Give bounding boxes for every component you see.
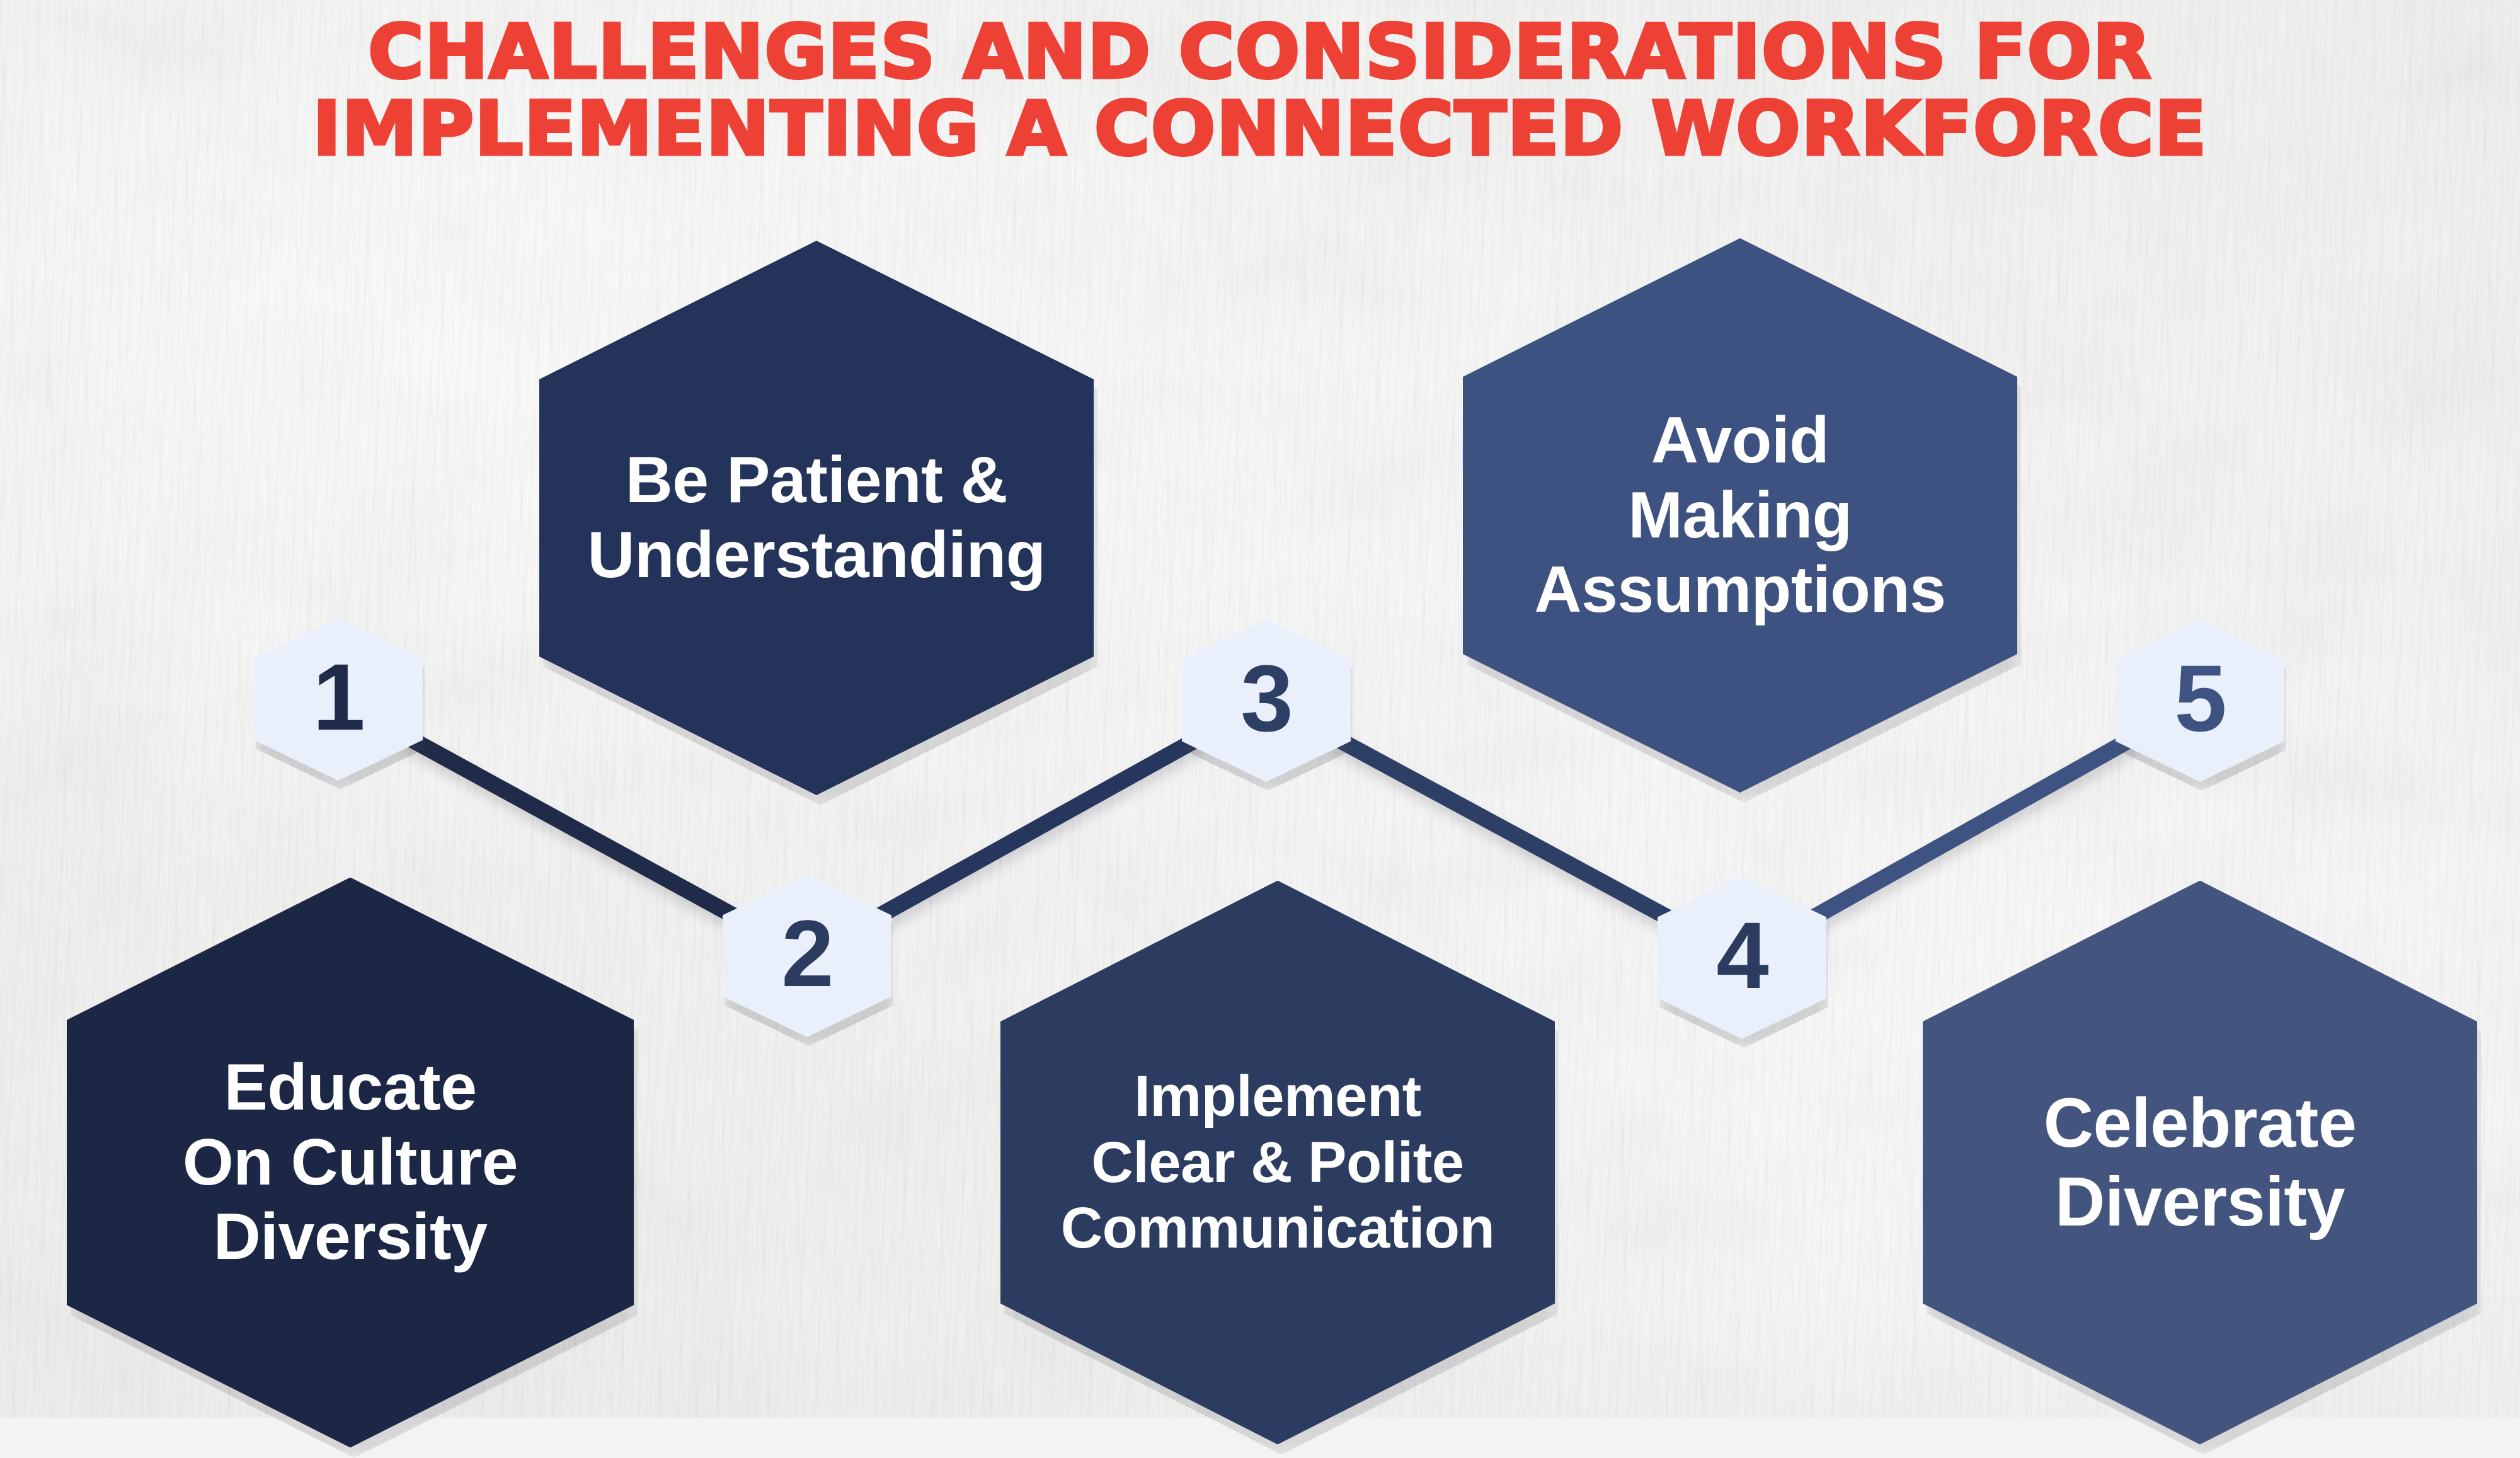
step-number-2: 2	[781, 906, 832, 1001]
step-number-5: 5	[2174, 651, 2225, 745]
title-line-2: IMPLEMENTING A CONNECTED WORKFORCE	[0, 91, 2520, 168]
title-line-1: CHALLENGES AND CONSIDERATIONS FOR	[0, 14, 2520, 91]
hexagon-label-1: Educate On Culture Diversity	[137, 1050, 563, 1275]
hexagon-label-2: Be Patient & Understanding	[543, 443, 1090, 592]
hexagon-label-3: Implement Clear & Polite Communication	[1016, 1064, 1538, 1262]
hexagon-label-5: Celebrate Diversity	[1999, 1084, 2401, 1242]
step-number-3: 3	[1240, 651, 1291, 745]
step-number-1: 1	[312, 650, 364, 744]
step-number-4: 4	[1716, 908, 1767, 1002]
page-title: CHALLENGES AND CONSIDERATIONS FOR IMPLEM…	[0, 14, 2520, 167]
hexagon-label-4: Avoid Making Assumptions	[1490, 403, 1990, 628]
